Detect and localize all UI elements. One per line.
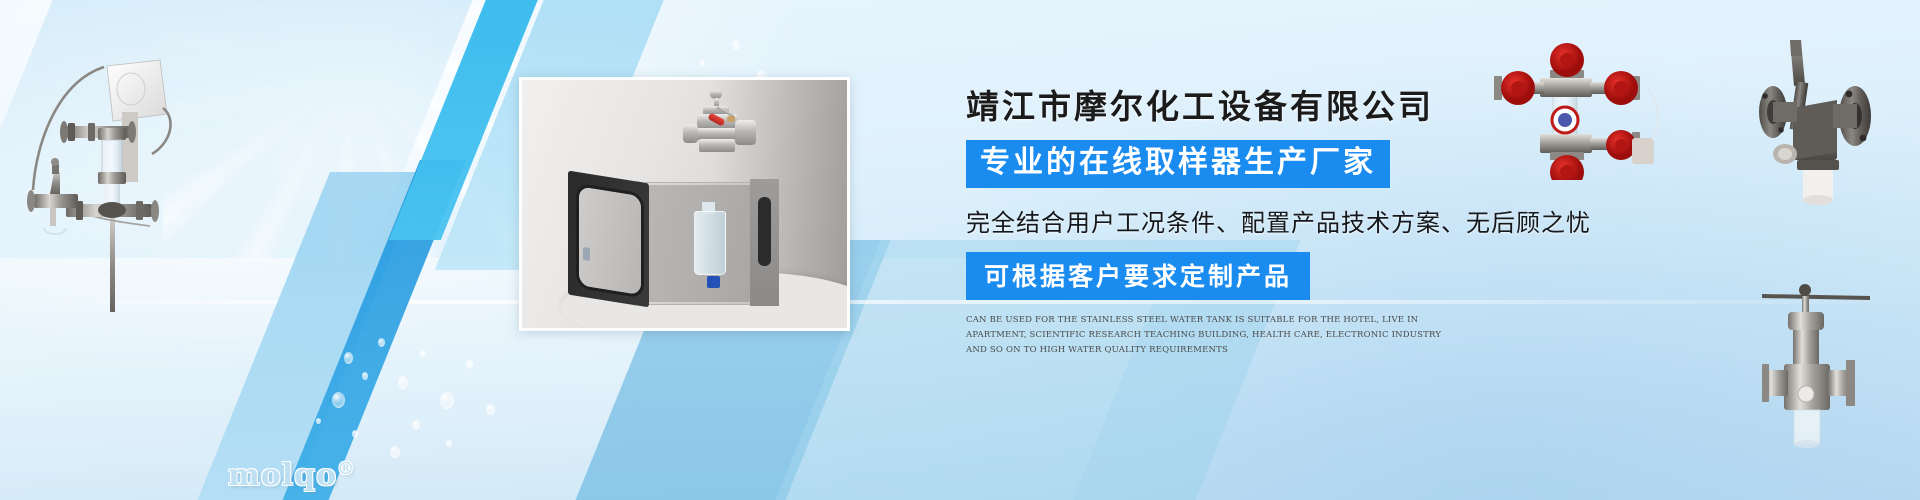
photo-cabinet-door bbox=[568, 170, 649, 307]
lever-valve-image bbox=[1745, 20, 1920, 220]
headline-highlight-secondary: 可根据客户要求定制产品 bbox=[966, 252, 1310, 300]
registered-trademark-icon: ® bbox=[337, 459, 355, 479]
headline-highlight-primary: 专业的在线取样器生产厂家 bbox=[966, 140, 1390, 188]
banner-copy: 靖江市摩尔化工设备有限公司 专业的在线取样器生产厂家 完全结合用户工况条件、配置… bbox=[966, 88, 1736, 358]
photo-blue-cap bbox=[707, 276, 720, 288]
photo-cabinet-handle bbox=[758, 197, 771, 266]
brand-logo-text: molqo bbox=[228, 458, 337, 493]
english-caption: CAN BE USED FOR THE STAINLESS STEEL WATE… bbox=[966, 313, 1456, 358]
tagline: 完全结合用户工况条件、配置产品技术方案、无后顾之忧 bbox=[966, 203, 1736, 238]
photo-valve-assembly bbox=[678, 90, 763, 189]
company-name: 靖江市摩尔化工设备有限公司 bbox=[966, 88, 1736, 126]
photo-sample-bottle bbox=[694, 211, 725, 275]
promo-banner: 靖江市摩尔化工设备有限公司 专业的在线取样器生产厂家 完全结合用户工况条件、配置… bbox=[0, 0, 1920, 500]
brand-logo: molqo® bbox=[228, 458, 355, 493]
left-product-image bbox=[0, 22, 200, 312]
needle-valve-image bbox=[1762, 272, 1920, 462]
valve-handwheel-top bbox=[1550, 43, 1584, 77]
center-product-photo bbox=[519, 77, 850, 331]
